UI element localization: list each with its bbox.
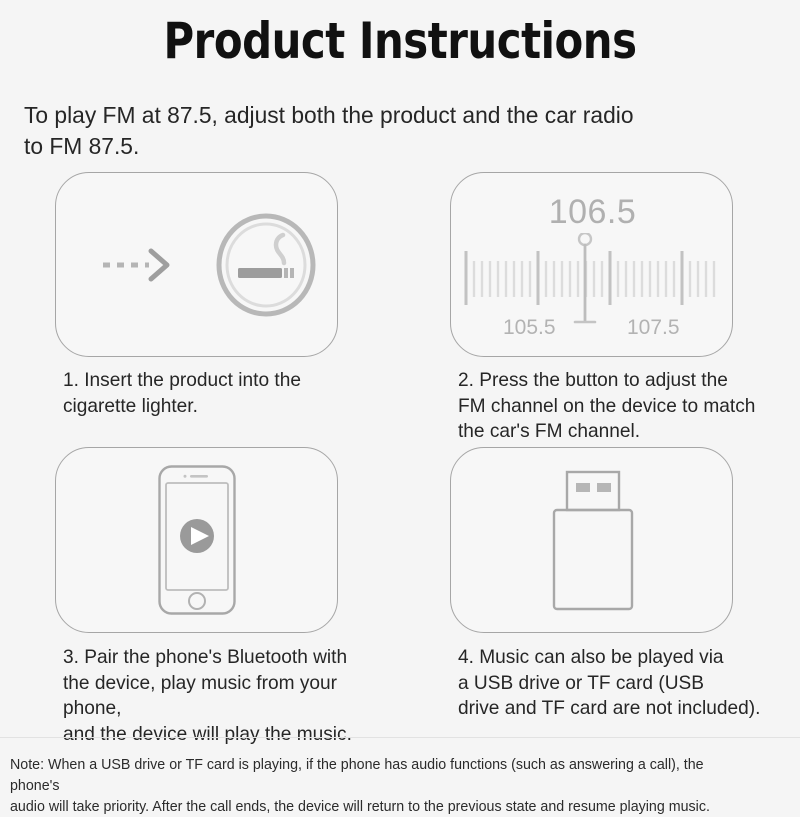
step-2-caption: 2. Press the button to adjust the FM cha… xyxy=(458,368,762,445)
step-4-caption: 4. Music can also be played via a USB dr… xyxy=(458,645,762,722)
tuner-current-frequency: 106.5 xyxy=(451,193,734,232)
step-2-illustration-panel: 106.5 xyxy=(450,172,733,357)
step-4-illustration-panel xyxy=(450,447,733,633)
step-2: 106.5 xyxy=(450,172,768,445)
usb-drive-icon xyxy=(550,470,636,618)
footer-divider xyxy=(0,737,800,738)
page-title: Product Instructions xyxy=(28,10,772,72)
step-3: 3. Pair the phone's Bluetooth with the d… xyxy=(55,447,373,747)
step-1: 1. Insert the product into the cigarette… xyxy=(55,172,373,419)
step-1-caption: 1. Insert the product into the cigarette… xyxy=(63,368,367,419)
tuner-label-right: 107.5 xyxy=(627,316,680,340)
step-3-illustration-panel xyxy=(55,447,338,633)
product-instructions-page: Product Instructions To play FM at 87.5,… xyxy=(0,0,800,800)
step-4: 4. Music can also be played via a USB dr… xyxy=(450,447,768,722)
smartphone-icon xyxy=(157,464,237,621)
cigarette-lighter-icon xyxy=(214,213,318,322)
tuner-label-left: 105.5 xyxy=(503,316,556,340)
step-1-illustration-panel xyxy=(55,172,338,357)
footer-note: Note: When a USB drive or TF card is pla… xyxy=(10,754,755,817)
step-3-caption: 3. Pair the phone's Bluetooth with the d… xyxy=(63,645,367,747)
tuner-scale xyxy=(461,233,723,348)
intro-paragraph: To play FM at 87.5, adjust both the prod… xyxy=(24,100,761,162)
play-icon xyxy=(180,519,214,553)
dashed-arrow-icon xyxy=(101,245,181,290)
